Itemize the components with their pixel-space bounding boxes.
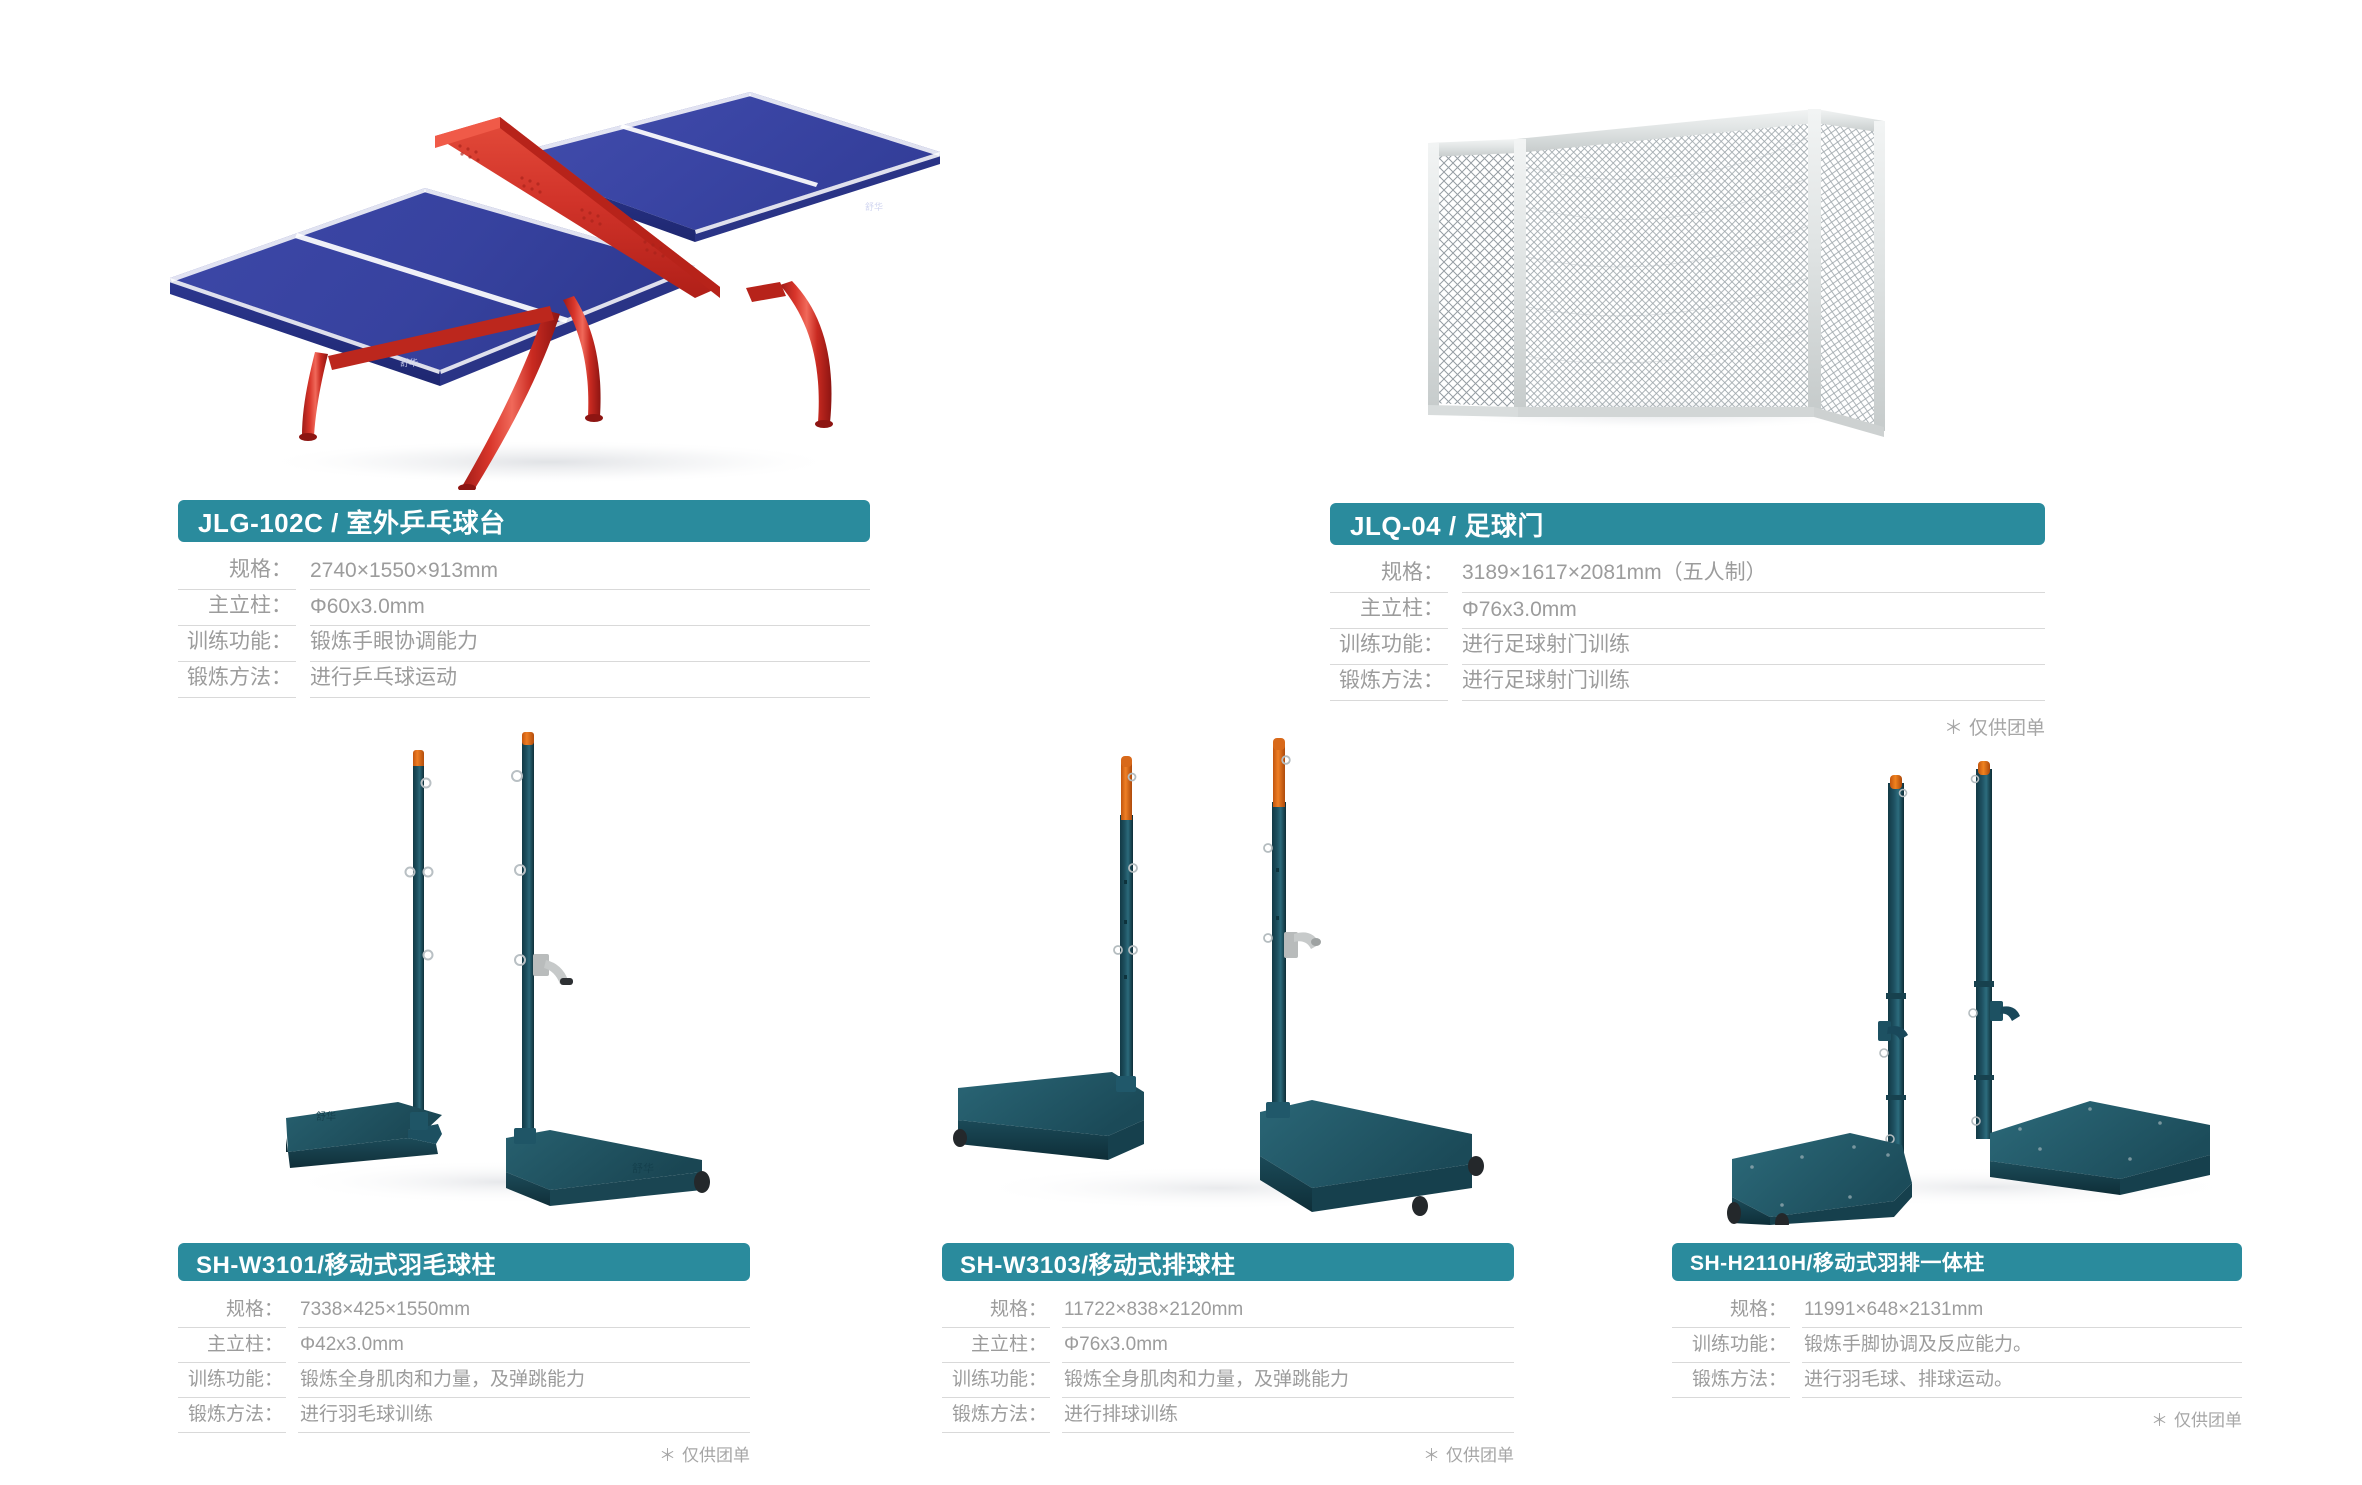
product-title-bar-volleyball: SH-W3103/移动式排球柱	[942, 1243, 1514, 1281]
spec-label: 主立柱：	[178, 1329, 290, 1363]
spec-label: 规格：	[942, 1294, 1054, 1328]
spec-value: 锻炼全身肌肉和力量，及弹跳能力	[1054, 1364, 1514, 1398]
spec-value: 进行羽毛球训练	[290, 1399, 750, 1433]
footnote-star-icon: ＊	[1423, 1446, 1440, 1465]
spec-row: 主立柱： Φ60x3.0mm	[178, 590, 870, 626]
spec-value: 进行足球射门训练	[1452, 664, 2045, 701]
product-title-bar-combo: SH-H2110H/移动式羽排一体柱	[1672, 1243, 2242, 1281]
product-title-bar-pingpong: JLG-102C / 室外乒乓球台	[178, 500, 870, 542]
product-card-pingpong: JLG-102C / 室外乒乓球台 规格： 2740×1550×913mm 主立…	[178, 500, 870, 698]
spec-label: 锻炼方法：	[1330, 664, 1452, 701]
spec-label: 训练功能：	[942, 1364, 1054, 1398]
spec-value: 锻炼手脚协调及反应能力。	[1794, 1329, 2242, 1363]
spec-row: 规格： 2740×1550×913mm	[178, 554, 870, 590]
spec-table-combo: 规格： 11991×648×2131mm 训练功能： 锻炼手脚协调及反应能力。 …	[1672, 1293, 2242, 1398]
spec-label: 规格：	[1330, 556, 1452, 593]
footnote-star-icon: ＊	[1944, 718, 1963, 739]
spec-row: 锻炼方法： 进行羽毛球、排球运动。	[1672, 1363, 2242, 1398]
svg-text:舒华: 舒华	[400, 357, 418, 368]
spec-label: 规格：	[1672, 1294, 1794, 1328]
spec-row: 训练功能： 进行足球射门训练	[1330, 629, 2045, 665]
mobile-volleyball-post-photo	[920, 720, 1520, 1220]
row-divider-left	[1330, 700, 1448, 701]
footnote-badminton: ＊仅供团单	[178, 1441, 750, 1466]
mobile-badminton-volleyball-combo-post-photo	[1690, 735, 2290, 1225]
spec-value: Φ42x3.0mm	[290, 1334, 750, 1363]
footnote-star-icon: ＊	[2151, 1411, 2168, 1430]
spec-row: 训练功能： 锻炼手眼协调能力	[178, 626, 870, 662]
spec-row: 训练功能： 锻炼手脚协调及反应能力。	[1672, 1328, 2242, 1363]
footnote-text: 仅供团单	[1969, 718, 2045, 739]
footnote-volleyball: ＊仅供团单	[942, 1441, 1514, 1466]
spec-row: 主立柱： Φ76x3.0mm	[942, 1328, 1514, 1363]
spec-label: 规格：	[178, 553, 300, 590]
product-title-volleyball: SH-W3103/移动式排球柱	[960, 1245, 1236, 1280]
spec-row: 训练功能： 锻炼全身肌肉和力量，及弹跳能力	[942, 1363, 1514, 1398]
spec-label: 训练功能：	[178, 1364, 290, 1398]
product-title-pingpong: JLG-102C / 室外乒乓球台	[198, 503, 506, 540]
spec-row: 锻炼方法： 进行排球训练	[942, 1398, 1514, 1433]
spec-value: 进行足球射门训练	[1452, 628, 2045, 665]
spec-label: 主立柱：	[942, 1329, 1054, 1363]
spec-label: 锻炼方法：	[942, 1399, 1054, 1433]
footnote-goal: ＊仅供团单	[1330, 713, 2045, 740]
product-title-bar-goal: JLQ-04 / 足球门	[1330, 503, 2045, 545]
spec-row: 训练功能： 锻炼全身肌肉和力量，及弹跳能力	[178, 1363, 750, 1398]
row-divider-left	[178, 1432, 286, 1433]
spec-label: 锻炼方法：	[1672, 1364, 1794, 1398]
spec-label: 主立柱：	[1330, 592, 1452, 629]
spec-value: 锻炼手眼协调能力	[300, 625, 870, 662]
spec-row: 锻炼方法： 进行乒乓球运动	[178, 662, 870, 698]
spec-row: 锻炼方法： 进行足球射门训练	[1330, 665, 2045, 701]
spec-value: 11991×648×2131mm	[1794, 1299, 2242, 1328]
spec-row: 规格： 11722×838×2120mm	[942, 1293, 1514, 1328]
product-card-volleyball: SH-W3103/移动式排球柱 规格： 11722×838×2120mm 主立柱…	[942, 1243, 1514, 1466]
spec-table-pingpong: 规格： 2740×1550×913mm 主立柱： Φ60x3.0mm 训练功能：…	[178, 554, 870, 698]
spec-label: 训练功能：	[1672, 1329, 1794, 1363]
spec-table-goal: 规格： 3189×1617×2081mm（五人制） 主立柱： Φ76x3.0mm…	[1330, 557, 2045, 701]
footnote-combo: ＊仅供团单	[1672, 1406, 2242, 1431]
spec-value: Φ60x3.0mm	[300, 595, 870, 626]
row-divider-left	[1672, 1397, 1790, 1398]
spec-value: 进行乒乓球运动	[300, 661, 870, 698]
spec-value: 进行排球训练	[1054, 1399, 1514, 1433]
footnote-text: 仅供团单	[682, 1446, 750, 1465]
spec-label: 主立柱：	[178, 589, 300, 626]
row-divider-right	[1062, 1432, 1514, 1433]
spec-value: 11722×838×2120mm	[1054, 1299, 1514, 1328]
svg-text:舒华: 舒华	[865, 201, 883, 212]
product-card-badminton: SH-W3101/移动式羽毛球柱 规格： 7338×425×1550mm 主立柱…	[178, 1243, 750, 1466]
mobile-badminton-post-photo: 舒华 舒华	[250, 720, 750, 1220]
product-title-combo: SH-H2110H/移动式羽排一体柱	[1690, 1247, 1985, 1277]
product-card-combo: SH-H2110H/移动式羽排一体柱 规格： 11991×648×2131mm …	[1672, 1243, 2242, 1431]
spec-value: Φ76x3.0mm	[1452, 598, 2045, 629]
spec-row: 规格： 11991×648×2131mm	[1672, 1293, 2242, 1328]
row-divider-left	[942, 1432, 1050, 1433]
row-divider-right	[310, 697, 870, 698]
svg-text:舒华: 舒华	[316, 1110, 336, 1123]
outdoor-table-tennis-table-photo: 舒华 舒华	[150, 70, 940, 490]
spec-value: 2740×1550×913mm	[300, 559, 870, 590]
spec-row: 规格： 7338×425×1550mm	[178, 1293, 750, 1328]
row-divider-right	[1802, 1397, 2242, 1398]
spec-row: 规格： 3189×1617×2081mm（五人制）	[1330, 557, 2045, 593]
footnote-text: 仅供团单	[2174, 1411, 2242, 1430]
product-title-bar-badminton: SH-W3101/移动式羽毛球柱	[178, 1243, 750, 1281]
row-divider-right	[1462, 700, 2045, 701]
product-title-goal: JLQ-04 / 足球门	[1350, 506, 1544, 543]
spec-label: 训练功能：	[1330, 628, 1452, 665]
footnote-star-icon: ＊	[659, 1446, 676, 1465]
spec-value: 进行羽毛球、排球运动。	[1794, 1364, 2242, 1398]
spec-row: 主立柱： Φ42x3.0mm	[178, 1328, 750, 1363]
row-divider-right	[298, 1432, 750, 1433]
product-card-goal: JLQ-04 / 足球门 规格： 3189×1617×2081mm（五人制） 主…	[1330, 503, 2045, 740]
spec-row: 主立柱： Φ76x3.0mm	[1330, 593, 2045, 629]
soccer-goal-photo	[1390, 55, 1920, 455]
row-divider-left	[178, 697, 296, 698]
spec-table-badminton: 规格： 7338×425×1550mm 主立柱： Φ42x3.0mm 训练功能：…	[178, 1293, 750, 1433]
catalog-page: 舒华 舒华	[0, 0, 2362, 1485]
svg-text:舒华: 舒华	[632, 1161, 654, 1175]
spec-table-volleyball: 规格： 11722×838×2120mm 主立柱： Φ76x3.0mm 训练功能…	[942, 1293, 1514, 1433]
product-title-badminton: SH-W3101/移动式羽毛球柱	[196, 1245, 496, 1280]
spec-row: 锻炼方法： 进行羽毛球训练	[178, 1398, 750, 1433]
spec-label: 锻炼方法：	[178, 661, 300, 698]
spec-value: Φ76x3.0mm	[1054, 1334, 1514, 1363]
spec-value: 锻炼全身肌肉和力量，及弹跳能力	[290, 1364, 750, 1398]
spec-label: 锻炼方法：	[178, 1399, 290, 1433]
spec-value: 7338×425×1550mm	[290, 1299, 750, 1328]
spec-label: 训练功能：	[178, 625, 300, 662]
spec-value: 3189×1617×2081mm（五人制）	[1452, 556, 2045, 593]
footnote-text: 仅供团单	[1446, 1446, 1514, 1465]
spec-label: 规格：	[178, 1294, 290, 1328]
